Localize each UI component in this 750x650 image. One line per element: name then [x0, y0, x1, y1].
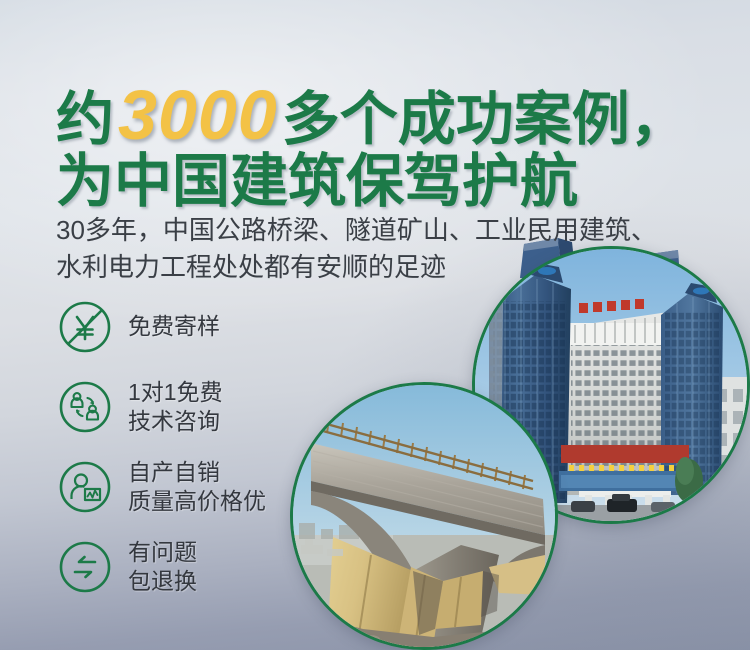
feature-label: 免费寄样	[128, 312, 220, 341]
subtitle-line-2: 水利电力工程处处都有安顺的足迹	[56, 249, 716, 286]
feature-line-2: 技术咨询	[128, 408, 220, 434]
headline-line-1: 约3000多个成功案例，	[56, 78, 696, 152]
headline-number: 3000	[114, 76, 282, 154]
feature-item-return-exchange[interactable]: 有问题 包退换	[58, 536, 358, 598]
headline: 约3000多个成功案例， 为中国建筑保驾护航	[56, 78, 696, 214]
feature-label: 有问题 包退换	[128, 538, 197, 597]
subtitle: 30多年，中国公路桥梁、隧道矿山、工业民用建筑、 水利电力工程处处都有安顺的足迹	[56, 212, 716, 286]
headline-suffix: 多个成功案例，	[282, 87, 688, 152]
feature-line-1: 有问题	[128, 539, 197, 565]
feature-item-free-sample[interactable]: 免费寄样	[58, 296, 358, 358]
promo-banner: 约3000多个成功案例， 为中国建筑保驾护航 30多年，中国公路桥梁、隧道矿山、…	[0, 0, 750, 650]
feature-line-1: 自产自销	[128, 459, 220, 485]
feature-label: 1对1免费 技术咨询	[128, 378, 223, 437]
headline-prefix: 约	[56, 87, 114, 152]
free-sample-icon	[58, 300, 112, 354]
headline-line-2: 为中国建筑保驾护航	[56, 150, 696, 214]
feature-item-consult[interactable]: 1对1免费 技术咨询	[58, 376, 358, 438]
feature-line-1: 免费寄样	[128, 313, 220, 339]
feature-label: 自产自销 质量高价格优	[128, 458, 266, 517]
one-on-one-consult-icon	[58, 380, 112, 434]
feature-line-2: 包退换	[128, 568, 197, 594]
feature-line-1: 1对1免费	[128, 379, 223, 405]
feature-line-2: 质量高价格优	[128, 488, 266, 514]
subtitle-line-1: 30多年，中国公路桥梁、隧道矿山、工业民用建筑、	[56, 212, 716, 249]
return-exchange-icon	[58, 540, 112, 594]
feature-list: 免费寄样	[58, 296, 358, 616]
self-production-icon	[58, 460, 112, 514]
feature-item-self-production[interactable]: 自产自销 质量高价格优	[58, 456, 358, 518]
